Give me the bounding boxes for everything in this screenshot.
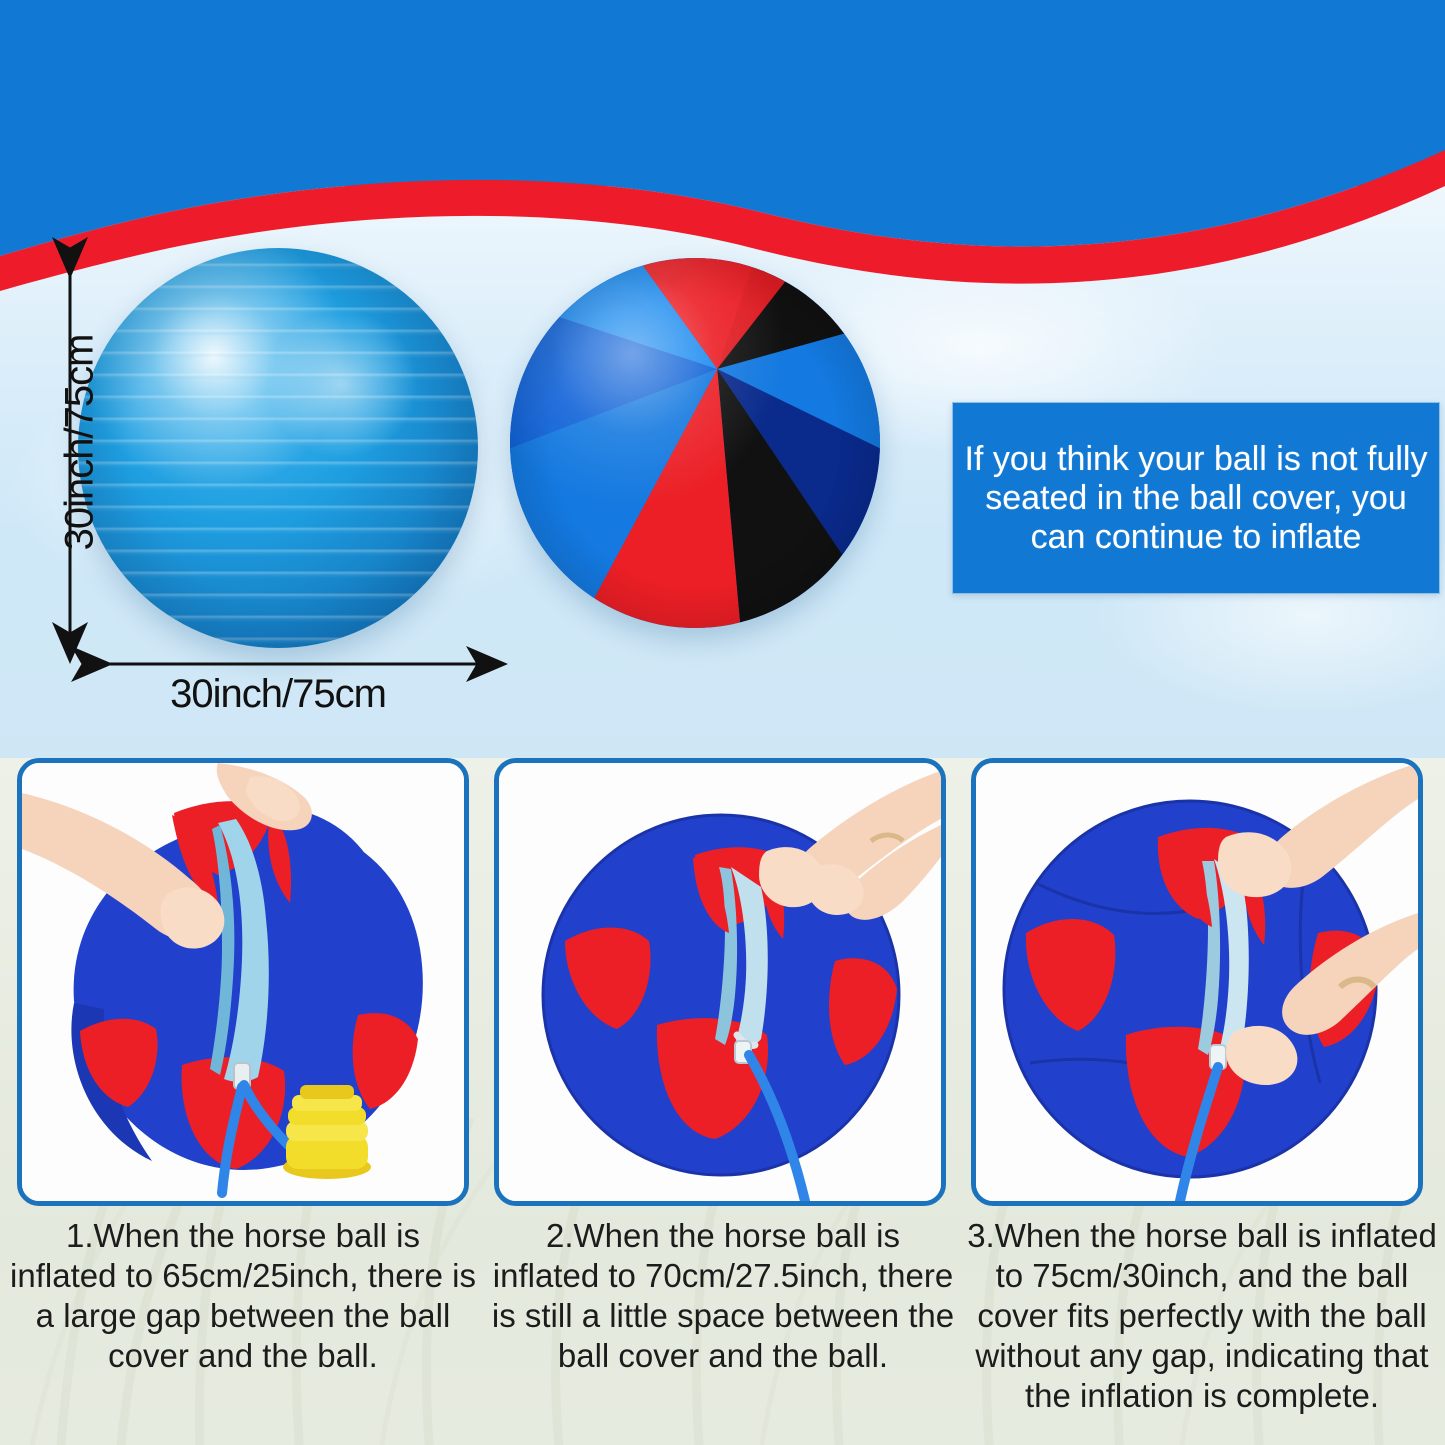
step-photo-2 (494, 758, 946, 1206)
step-caption-2: 2.When the horse ball is inflated to 70c… (490, 1216, 956, 1376)
step-caption-3: 3.When the horse ball is inflated to 75c… (963, 1216, 1441, 1416)
horizontal-dimension-label: 30inch/75cm (58, 672, 498, 717)
step-photo-1 (17, 758, 469, 1206)
step-photo-panels (0, 758, 1445, 1213)
step-caption-1: 1.When the horse ball is inflated to 65c… (10, 1216, 476, 1376)
header-subtitle: Our ball covers are made of stretch fabr… (135, 112, 1310, 149)
foot-pump-icon (283, 1085, 371, 1179)
step-captions: 1.When the horse ball is inflated to 65c… (0, 1216, 1445, 1445)
panel-1-illustration (22, 763, 464, 1201)
step-photo-3 (971, 758, 1423, 1206)
photo-loose-cover (22, 763, 464, 1201)
photo-rounder-cover (499, 763, 941, 1201)
page-title: PRODUCT SIZE (145, 8, 1301, 100)
inflate-advice-callout: If you think your ball is not fully seat… (952, 402, 1440, 594)
photo-fitted-cover (976, 763, 1418, 1201)
vertical-dimension-label: 30inch/75cm (58, 243, 103, 643)
product-size-infographic: PRODUCT SIZE Our ball covers are made of… (0, 0, 1445, 1445)
panel-3-illustration (976, 763, 1418, 1201)
panel-2-illustration (499, 763, 941, 1201)
inflate-advice-text: If you think your ball is not fully seat… (953, 440, 1439, 557)
